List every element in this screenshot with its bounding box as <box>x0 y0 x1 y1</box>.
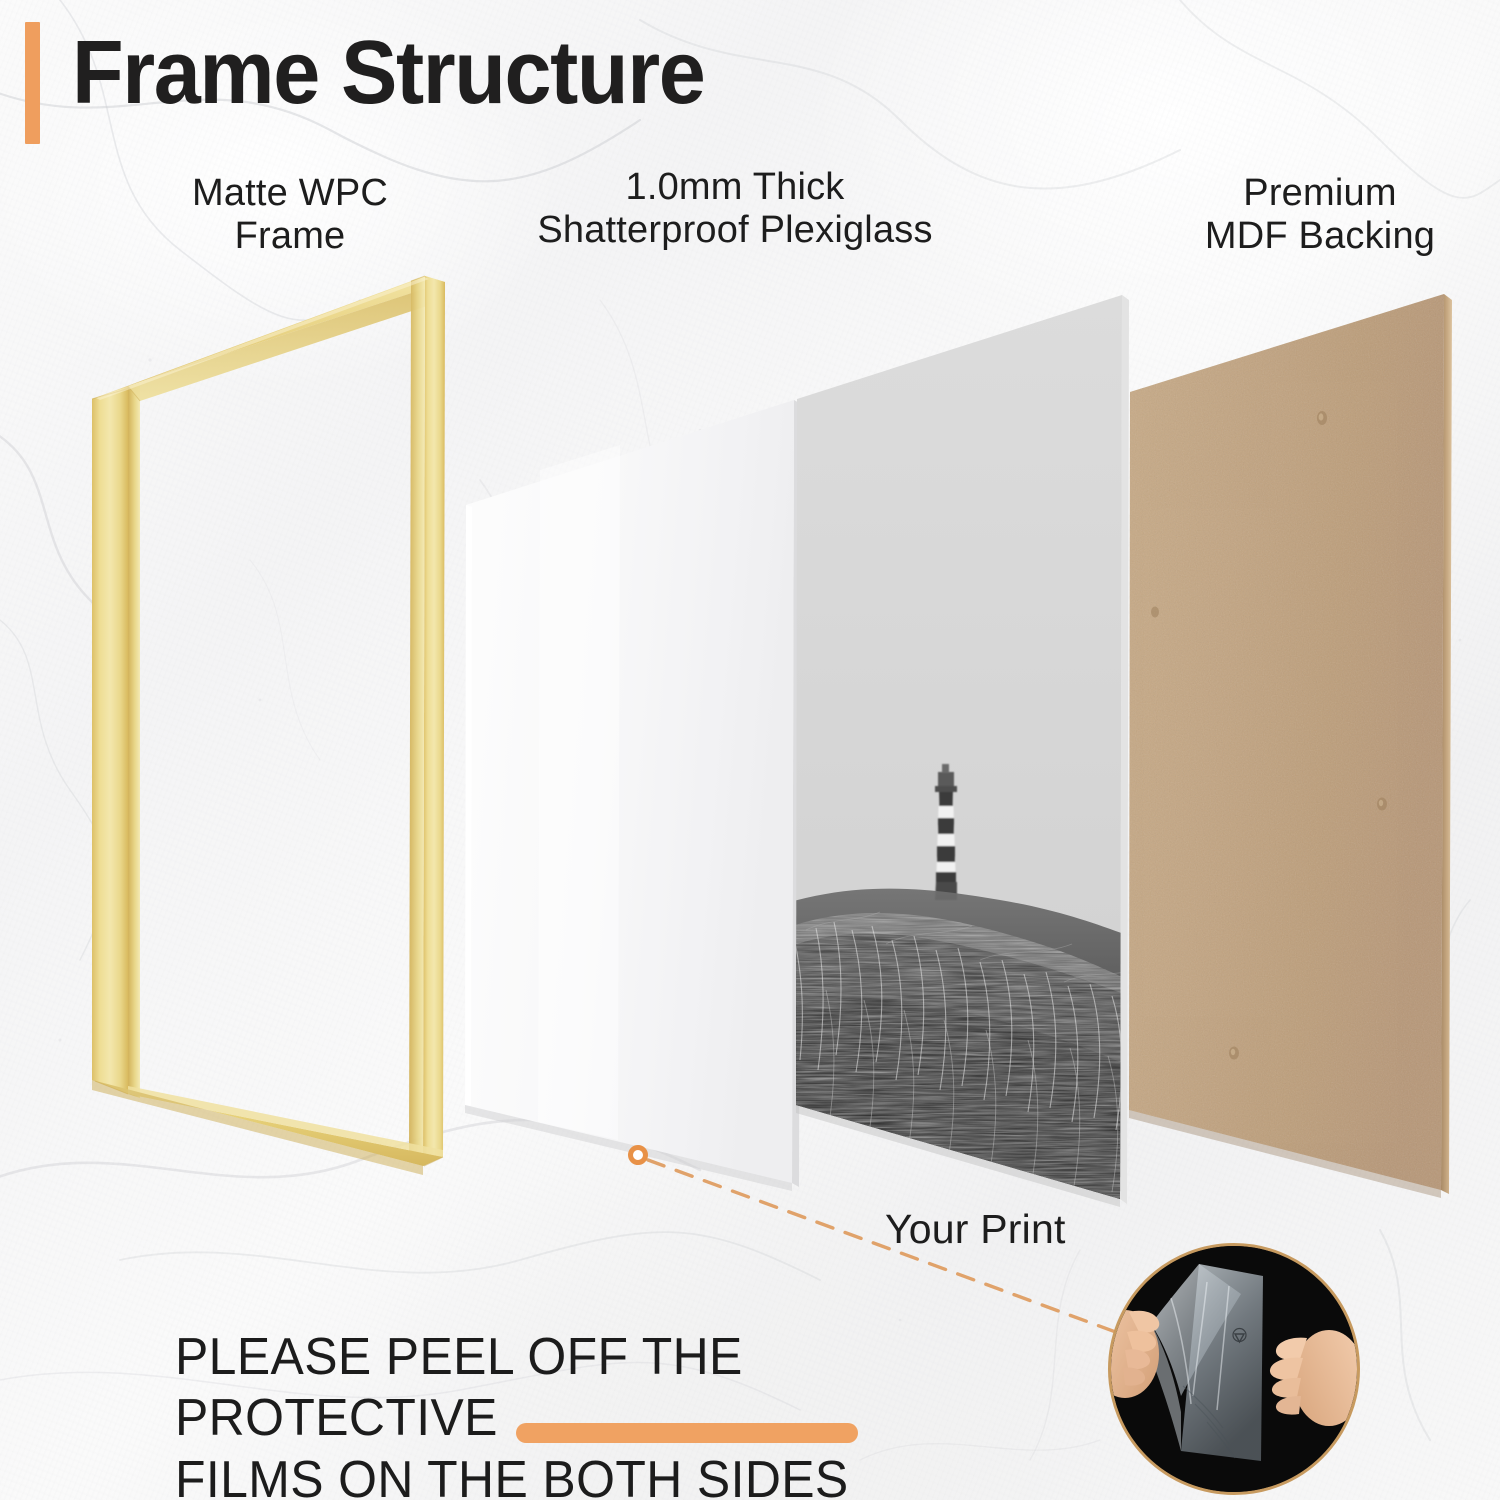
peel-instruction-text: PLEASE PEEL OFF THE PROTECTIVE FILMS ON … <box>175 1327 1020 1500</box>
peel-protective-film-photo <box>1108 1243 1360 1495</box>
your-print-marker-dot <box>628 1145 648 1165</box>
infographic-canvas: Frame Structure Matte WPC Frame 1.0mm Th… <box>0 0 1500 1500</box>
your-print-label: Your Print <box>885 1206 1066 1253</box>
